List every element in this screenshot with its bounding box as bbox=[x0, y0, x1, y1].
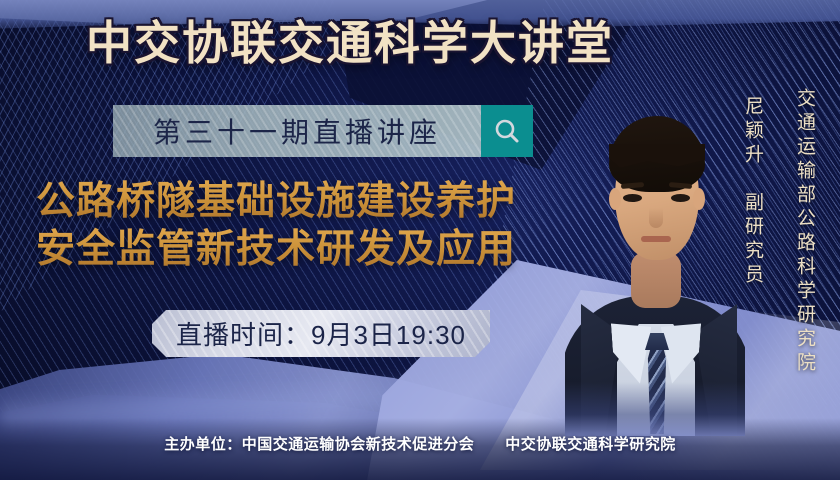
headline-line-2: 安全监管新技术研发及应用 bbox=[36, 226, 576, 274]
speaker-name-title: 尼颖升 副研究员 bbox=[739, 96, 766, 288]
session-bar-body: 第三十一期直播讲座 bbox=[113, 105, 481, 157]
session-label: 第三十一期直播讲座 bbox=[153, 111, 441, 151]
broadcast-time-bar: 直播时间：9月3日19:30 bbox=[152, 310, 490, 357]
portrait-mouth bbox=[641, 236, 671, 242]
portrait-ear-left bbox=[609, 188, 621, 210]
broadcast-time-label: 直播时间：9月3日19:30 bbox=[176, 315, 466, 352]
portrait-neck bbox=[631, 252, 681, 308]
portrait-eye-right bbox=[671, 194, 690, 202]
organizer-footer: 主办单位：中国交通运输协会新技术促进分会 中交协联交通科学研究院 bbox=[0, 433, 840, 454]
speaker-institution: 交通运输部公路科学研究院 bbox=[791, 88, 818, 376]
speaker-portrait bbox=[565, 84, 745, 436]
portrait-eye-left bbox=[623, 194, 642, 202]
headline: 公路桥隧基础设施建设养护 安全监管新技术研发及应用 bbox=[36, 178, 576, 274]
session-bar: 第三十一期直播讲座 bbox=[113, 105, 533, 157]
headline-line-1: 公路桥隧基础设施建设养护 bbox=[36, 178, 576, 226]
portrait-bottom-fade bbox=[565, 382, 745, 436]
portrait-nose bbox=[649, 208, 663, 228]
livestream-poster: 中交协联交通科学大讲堂 第三十一期直播讲座 公路桥隧基础设施建设养护 安全监管新… bbox=[0, 0, 840, 480]
portrait-ear-right bbox=[693, 188, 705, 210]
page-title: 中交协联交通科学大讲堂 bbox=[0, 14, 700, 72]
search-icon[interactable] bbox=[481, 105, 533, 157]
